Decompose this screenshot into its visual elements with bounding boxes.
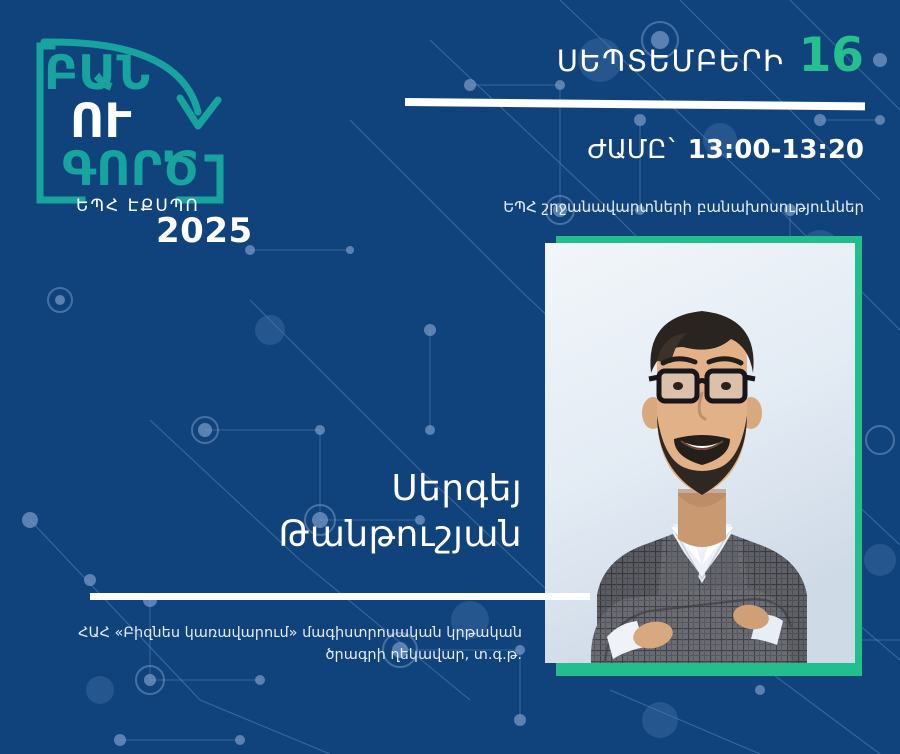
speaker-photo	[545, 243, 855, 663]
speaker-last-name: Թանթուշյան	[150, 512, 522, 558]
logo-line-3: ԳՈՐԾ	[62, 146, 219, 194]
header-subtitle: ԵՊՀ շրջանավարտների բանախոսություններ	[503, 198, 864, 216]
time-value: 13:00-13:20	[688, 135, 864, 165]
logo-year: 2025	[156, 214, 253, 248]
logo-line-1: ԲԱՆ	[44, 50, 219, 98]
logo-line-2: ՈՒ	[70, 98, 219, 146]
time-label: ԺԱՄԸ`	[587, 135, 679, 165]
speaker-name: Սերգեյ Թանթուշյան	[150, 466, 522, 558]
time-row: ԺԱՄԸ` 13:00-13:20	[587, 135, 864, 165]
divider-top	[405, 98, 865, 110]
speaker-role-line-2: ծրագրի ղեկավար, տ.գ.թ.	[60, 644, 522, 666]
header-date-block: ՍԵՊՏԵՄԲԵՐԻ 16	[344, 34, 864, 79]
speaker-first-name: Սերգեյ	[150, 466, 522, 512]
speaker-role-line-1: ՀԱՀ «Բիզնես կառավարում» մագիստրոսական կր…	[60, 622, 522, 644]
date-row: ՍԵՊՏԵՄԲԵՐԻ 16	[344, 34, 864, 79]
speaker-role: ՀԱՀ «Բիզնես կառավարում» մագիստրոսական կր…	[60, 622, 522, 667]
day-number: 16	[799, 34, 864, 79]
event-logo: ԲԱՆ ՈՒ ԳՈՐԾ ԵՊՀ ԷՔՍՊՈ 2025	[30, 28, 250, 228]
divider-bottom	[90, 593, 590, 600]
event-poster: ԲԱՆ ՈՒ ԳՈՐԾ ԵՊՀ ԷՔՍՊՈ 2025 ՍԵՊՏԵՄԲԵՐԻ 16…	[0, 0, 900, 754]
speaker-portrait-illustration	[545, 243, 855, 663]
month-label: ՍԵՊՏԵՄԲԵՐԻ	[557, 44, 785, 78]
